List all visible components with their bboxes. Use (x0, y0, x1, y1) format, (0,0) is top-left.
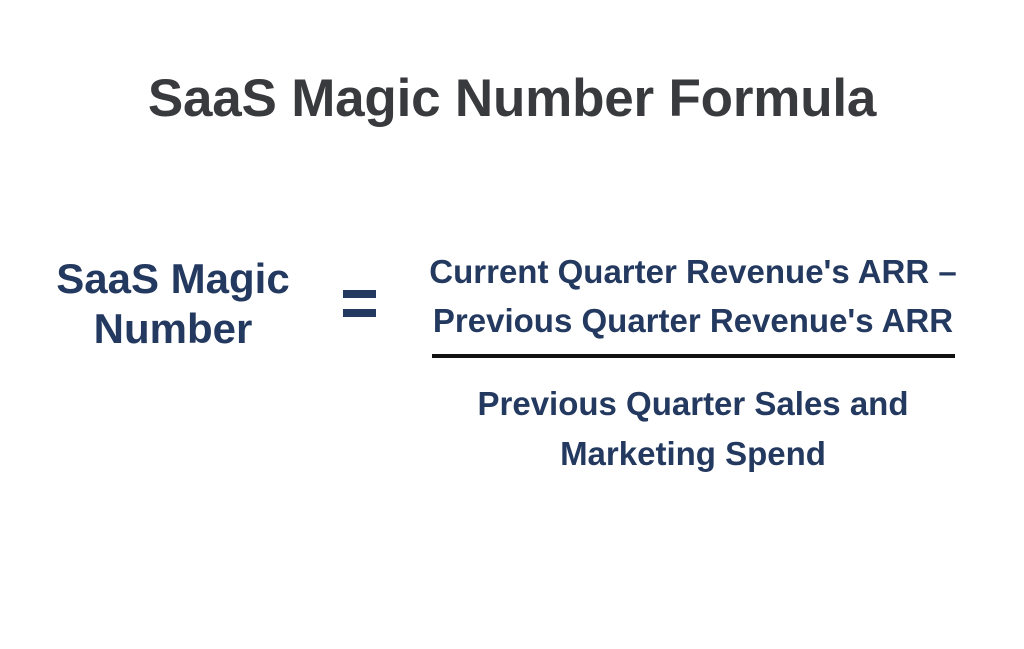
equals-sign-icon (338, 290, 380, 317)
page-title: SaaS Magic Number Formula (0, 70, 1024, 128)
denominator-line-1: Previous Quarter Sales and (393, 379, 993, 429)
numerator-line-1: Current Quarter Revenue's ARR – (393, 248, 993, 297)
denominator-line-2: Marketing Spend (393, 429, 993, 479)
left-term-line-2: Number (8, 304, 338, 354)
fraction-divider-line (432, 354, 955, 358)
left-term-line-1: SaaS Magic (8, 254, 338, 304)
fraction-denominator: Previous Quarter Sales and Marketing Spe… (393, 379, 993, 478)
formula-diagram: SaaS Magic Number Formula SaaS Magic Num… (0, 0, 1024, 649)
equals-bar-top (343, 290, 376, 298)
numerator-line-2: Previous Quarter Revenue's ARR (393, 297, 993, 346)
fraction-numerator: Current Quarter Revenue's ARR – Previous… (393, 248, 993, 345)
equals-bar-bottom (343, 309, 376, 317)
formula-equation: SaaS Magic Number Current Quarter Revenu… (0, 248, 1024, 508)
fraction: Current Quarter Revenue's ARR – Previous… (393, 248, 993, 478)
left-hand-term: SaaS Magic Number (8, 248, 338, 353)
